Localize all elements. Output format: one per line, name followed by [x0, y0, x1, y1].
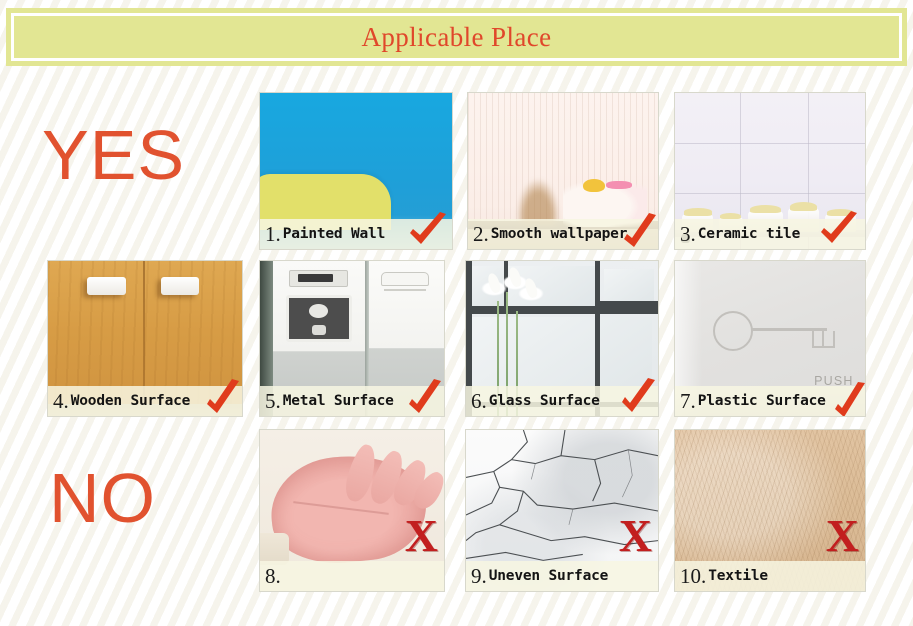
item-card-1[interactable]: 1. Painted Wall: [259, 92, 453, 250]
item-card-2[interactable]: 2. Smooth wallpaper: [467, 92, 659, 250]
item-card-6[interactable]: 6. Glass Surface: [465, 260, 659, 417]
item-caption-6: 6. Glass Surface: [466, 386, 658, 416]
item-caption-10: 10. Textile: [675, 561, 865, 591]
item-card-5[interactable]: 5. Metal Surface: [259, 260, 445, 417]
item-label-5: Metal Surface: [283, 394, 394, 409]
item-caption-8: 8.: [260, 561, 444, 591]
page-background: Applicable Place YES NO 1. Painted Wall …: [0, 0, 913, 626]
fridge-handle: [381, 272, 429, 286]
item-label-2: Smooth wallpaper: [491, 227, 627, 242]
item-number-10: 10.: [680, 566, 706, 587]
item-caption-9: 9. Uneven Surface: [466, 561, 658, 591]
item-number-7: 7.: [680, 391, 696, 412]
item-caption-5: 5. Metal Surface: [260, 386, 444, 416]
verdict-yes-label: YES: [42, 120, 185, 190]
item-number-1: 1.: [265, 224, 281, 245]
item-number-5: 5.: [265, 391, 281, 412]
item-label-7: Plastic Surface: [698, 394, 826, 409]
item-label-1: Painted Wall: [283, 227, 385, 242]
item-number-8: 8.: [265, 566, 281, 587]
item-card-7[interactable]: PUSH 7. Plastic Surface: [674, 260, 866, 417]
flower-bloom: [518, 286, 544, 301]
fridge-ice-dispenser: [286, 295, 352, 342]
tile-grout-line: [675, 143, 865, 144]
item-label-10: Textile: [708, 569, 768, 584]
item-card-3[interactable]: 3. Ceramic tile: [674, 92, 866, 250]
item-caption-1: 1. Painted Wall: [260, 219, 452, 249]
window-pane: [604, 269, 654, 303]
key-icon-ring: [713, 311, 753, 351]
item-label-9: Uneven Surface: [489, 569, 608, 584]
item-card-4[interactable]: 4. Wooden Surface: [47, 260, 243, 417]
item-number-4: 4.: [53, 391, 69, 412]
item-card-9[interactable]: 9. Uneven Surface X: [465, 429, 659, 592]
item-number-3: 3.: [680, 224, 696, 245]
item-caption-4: 4. Wooden Surface: [48, 386, 242, 416]
key-icon-teeth: [812, 331, 835, 348]
verdict-no-label: NO: [49, 463, 156, 533]
item-caption-2: 2. Smooth wallpaper: [468, 219, 658, 249]
item-label-4: Wooden Surface: [71, 394, 190, 409]
item-number-9: 9.: [471, 566, 487, 587]
item-label-3: Ceramic tile: [698, 227, 800, 242]
header-banner-inner: Applicable Place: [11, 13, 902, 61]
item-number-2: 2.: [473, 224, 489, 245]
header-banner: Applicable Place: [6, 8, 907, 66]
item-label-6: Glass Surface: [489, 394, 600, 409]
item-card-10[interactable]: 10. Textile X: [674, 429, 866, 592]
item-number-6: 6.: [471, 391, 487, 412]
item-caption-3: 3. Ceramic tile: [675, 219, 865, 249]
wall-hook: [87, 277, 126, 296]
item-card-8[interactable]: 8. X: [259, 429, 445, 592]
window-frame: [600, 301, 658, 307]
page-title: Applicable Place: [361, 22, 551, 53]
fridge-control-panel: [289, 270, 348, 287]
wall-hook: [161, 277, 200, 296]
item-caption-7: 7. Plastic Surface: [675, 386, 865, 416]
